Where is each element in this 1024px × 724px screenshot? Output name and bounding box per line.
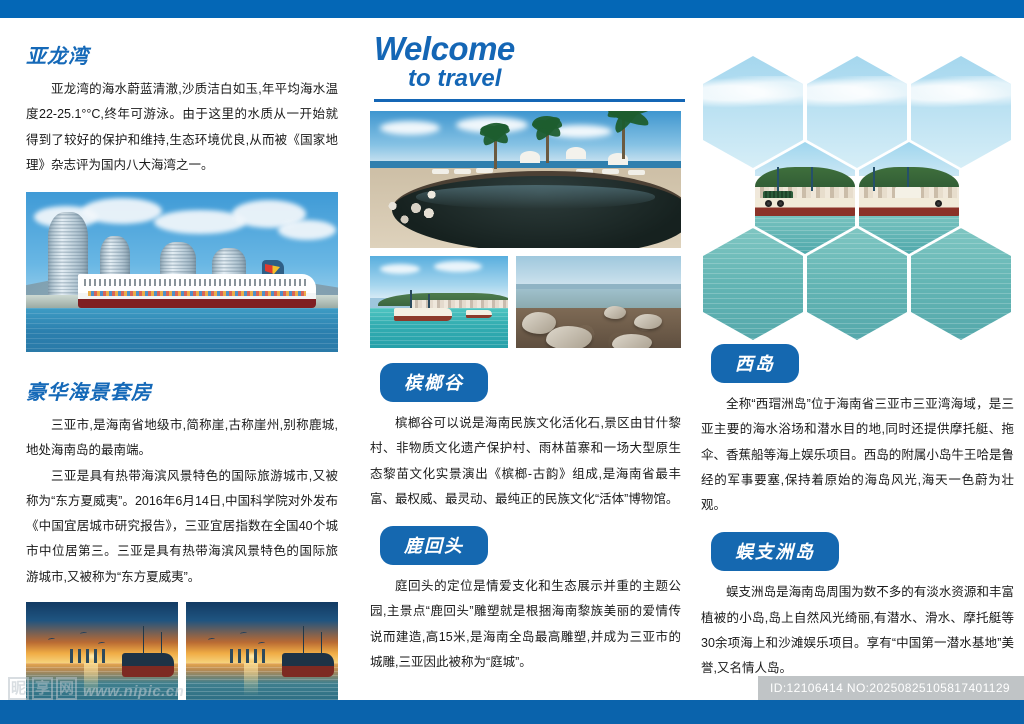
hex-cell-sky-1	[703, 56, 803, 168]
hex-cell-harbour-right	[859, 142, 959, 254]
hex-cell-sky-2	[807, 56, 907, 168]
yalong-bay-body: 亚龙湾的海水蔚蓝清澈,沙质洁白如玉,年平均海水温度22-25.1°°C,终年可游…	[26, 77, 338, 178]
photo-fishing-boat	[282, 653, 334, 677]
hex-cell-water-2	[807, 228, 907, 340]
deer-looking-back-paragraph: 庭回头的定位是情爱支化和生态展示并重的主题公园,主景点“鹿回头”雕塑就是根捆海南…	[370, 574, 681, 675]
hex-water	[703, 228, 803, 340]
photo-cruise-ship	[78, 274, 316, 308]
betel-nut-valley-body: 槟榔谷可以说是海南民族文化活化石,景区由甘什黎村、非物质文化遗产保护村、雨林苗寨…	[370, 411, 681, 512]
photo-town	[411, 300, 508, 307]
hex-sky	[911, 56, 1011, 168]
nipic-url-text: www.nipic.cn	[83, 683, 184, 700]
heading-luxury-seaview-suite: 豪华海景套房	[26, 376, 338, 405]
betel-valley-block: 槟榔谷 槟榔谷可以说是海南民族文化活化石,景区由甘什黎村、非物质文化遗产保护村、…	[370, 363, 681, 512]
luxury-seaview-paragraph-1: 三亚市,是海南省地级市,简称崖,古称崖州,别称鹿城,地处海南岛的最南端。	[26, 413, 338, 464]
sanya-towers-cruise-photo	[26, 192, 338, 352]
wuzhizhou-island-body: 蜈支洲岛是海南岛周围为数不多的有淡水资源和丰富植被的小岛,岛上自然风光绮丽,有潜…	[701, 580, 1014, 681]
hex-water	[911, 228, 1011, 340]
deer-looking-back-body: 庭回头的定位是情爱支化和生态展示并重的主题公园,主景点“鹿回头”雕塑就是根捆海南…	[370, 574, 681, 675]
heading-west-island: 西岛	[711, 344, 799, 383]
resort-pool-photo	[370, 111, 681, 248]
boat-harbour-photo	[370, 256, 508, 348]
bottom-blue-band	[0, 700, 1024, 724]
photo-sun-glow	[244, 663, 258, 696]
photo-boat	[394, 308, 452, 321]
hex-harbour-scene	[755, 142, 855, 254]
heading-wuzhizhou-island: 蜈支洲岛	[711, 532, 839, 571]
photo-sky	[516, 256, 681, 287]
photo-boat-small	[466, 310, 492, 318]
welcome-title-line1: Welcome	[374, 32, 681, 66]
luxury-seaview-paragraph-2: 三亚是具有热带海滨风景特色的国际旅游城市,又被称为“东方夏威夷”。2016年6月…	[26, 464, 338, 590]
logo-char-3: 网	[56, 677, 77, 700]
mid-photo-row	[370, 256, 681, 348]
brochure-page: 亚龙湾 亚龙湾的海水蔚蓝清澈,沙质洁白如玉,年平均海水温度22-25.1°°C,…	[0, 18, 1024, 690]
logo-char-1: 昵	[8, 677, 29, 700]
hex-cell-water-3	[911, 228, 1011, 340]
top-blue-band	[0, 0, 1024, 18]
nipic-logo-icon: 昵 享 网	[8, 677, 77, 700]
hex-sky	[807, 56, 907, 168]
west-island-paragraph: 全称“西瑁洲岛”位于海南省三亚市三亚湾海域，是三亚主要的海水浴场和潜水目的地,同…	[701, 392, 1014, 518]
heading-deer-looking-back: 鹿回头	[380, 526, 488, 565]
hex-cell-water-1	[703, 228, 803, 340]
honeycomb-photo-cluster	[703, 32, 1014, 330]
welcome-title-block: Welcome to travel	[370, 32, 681, 102]
hex-cell-sky-3	[911, 56, 1011, 168]
hex-sky	[703, 56, 803, 168]
hex-water	[807, 228, 907, 340]
hex-harbour-hull	[859, 198, 959, 216]
hex-harbour-scene	[859, 142, 959, 254]
photo-fishing-boat	[122, 653, 174, 677]
betel-nut-valley-paragraph: 槟榔谷可以说是海南民族文化活化石,景区由甘什黎村、非物质文化遗产保护村、雨林苗寨…	[370, 411, 681, 512]
right-column: 西岛 全称“西瑁洲岛”位于海南省三亚市三亚湾海域，是三亚主要的海水浴场和潜水目的…	[695, 18, 1024, 690]
rocky-shore-photo	[516, 256, 681, 348]
wuzhizhou-island-block: 蜈支洲岛 蜈支洲岛是海南岛周围为数不多的有淡水资源和丰富植被的小岛,岛上自然风光…	[701, 532, 1014, 681]
left-column: 亚龙湾 亚龙湾的海水蔚蓝清澈,沙质洁白如玉,年平均海水温度22-25.1°°C,…	[0, 18, 360, 690]
image-id-watermark: ID:12106414 NO:20250825105817401129	[758, 676, 1024, 700]
heading-yalong-bay: 亚龙湾	[26, 40, 338, 69]
luxury-seaview-body: 三亚市,是海南省地级市,简称崖,古称崖州,别称鹿城,地处海南岛的最南端。 三亚是…	[26, 413, 338, 590]
photo-water	[516, 289, 681, 309]
nipic-watermark: 昵 享 网 www.nipic.cn	[8, 677, 184, 700]
yalong-bay-paragraph: 亚龙湾的海水蔚蓝清澈,沙质洁白如玉,年平均海水温度22-25.1°°C,终年可游…	[26, 77, 338, 178]
west-island-body: 全称“西瑁洲岛”位于海南省三亚市三亚湾海域，是三亚主要的海水浴场和潜水目的地,同…	[701, 392, 1014, 518]
welcome-underline	[374, 99, 685, 102]
middle-column: Welcome to travel	[360, 18, 695, 690]
welcome-title-line2: to travel	[374, 66, 681, 92]
photo-sea	[26, 308, 338, 352]
logo-char-2: 享	[32, 677, 53, 700]
heading-betel-nut-valley: 槟榔谷	[380, 363, 488, 402]
wuzhizhou-island-paragraph: 蜈支洲岛是海南岛周围为数不多的有淡水资源和丰富植被的小岛,岛上自然风光绮丽,有潜…	[701, 580, 1014, 681]
west-island-block: 西岛 全称“西瑁洲岛”位于海南省三亚市三亚湾海域，是三亚主要的海水浴场和潜水目的…	[701, 344, 1014, 518]
hex-cell-harbour-left	[755, 142, 855, 254]
deer-looking-back-block: 鹿回头 庭回头的定位是情爱支化和生态展示并重的主题公园,主景点“鹿回头”雕塑就是…	[370, 526, 681, 675]
sunset-harbour-photo-2	[186, 602, 338, 700]
